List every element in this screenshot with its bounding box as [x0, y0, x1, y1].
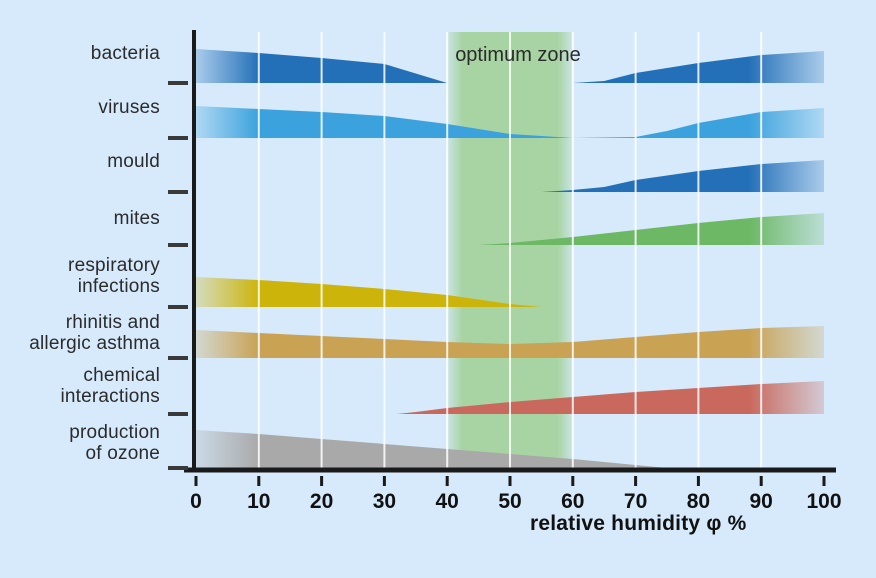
x-tick-label: 0: [166, 490, 226, 514]
x-tick-label: 90: [731, 490, 791, 514]
row-label-bacteria: bacteria: [0, 43, 160, 64]
x-tick-label: 10: [229, 490, 289, 514]
x-tick-label: 60: [543, 490, 603, 514]
row-label-mould: mould: [0, 151, 160, 172]
optimum-zone-label: optimum zone: [455, 44, 581, 67]
row-label-chemical-interactions: chemical interactions: [0, 365, 160, 407]
x-tick-label: 30: [354, 490, 414, 514]
row-label-production-of-ozone: production of ozone: [0, 422, 160, 464]
x-tick-label: 20: [292, 490, 352, 514]
x-tick-label: 80: [668, 490, 728, 514]
row-label-respiratory-infections: respiratory infections: [0, 255, 160, 297]
x-tick-label: 40: [417, 490, 477, 514]
row-label-mites: mites: [0, 208, 160, 229]
row-label-rhinitis-and-allergic-asthma: rhinitis and allergic asthma: [0, 312, 160, 354]
humidity-chart: optimum zone bacteriavirusesmouldmitesre…: [0, 0, 876, 578]
x-axis-title: relative humidity φ %: [530, 512, 746, 536]
x-tick-label: 50: [480, 490, 540, 514]
x-tick-label: 100: [794, 490, 854, 514]
x-tick-label: 70: [606, 490, 666, 514]
row-label-viruses: viruses: [0, 97, 160, 118]
